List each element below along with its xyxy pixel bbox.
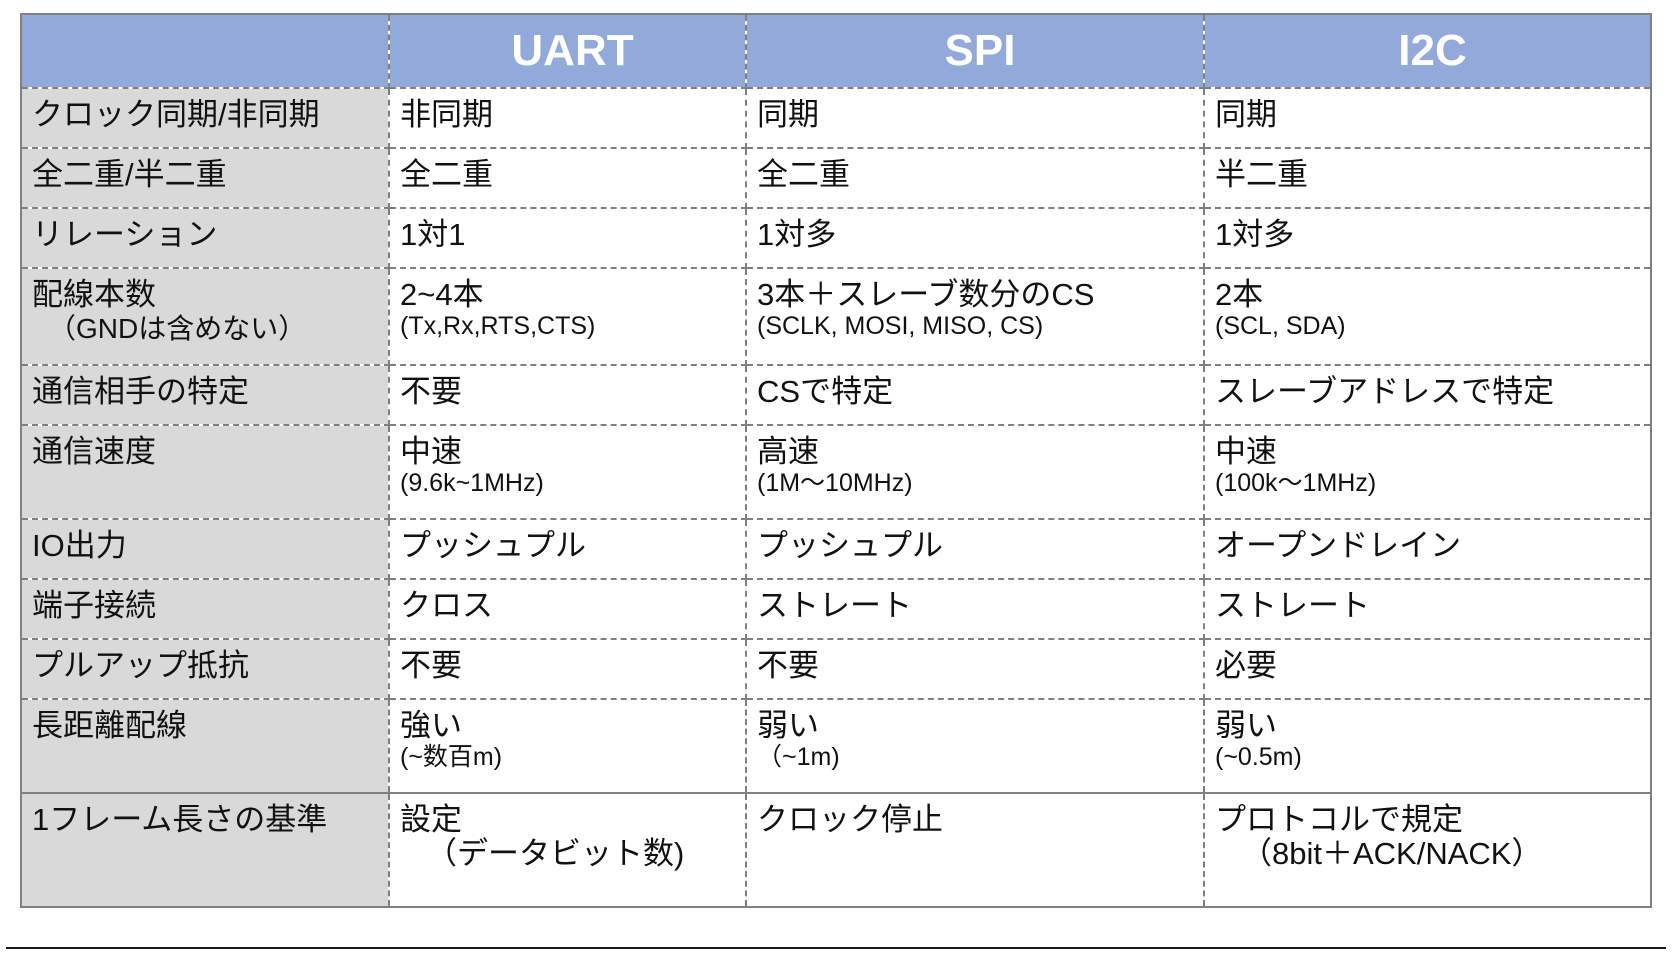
table-row: 端子接続 クロス ストレート ストレート <box>21 579 1651 639</box>
cell-value: オープンドレイン <box>1205 520 1650 571</box>
row-label: クロック同期/非同期 <box>22 89 388 141</box>
row-label-cell: 長距離配線 <box>21 699 389 793</box>
table-row: 通信相手の特定 不要 CSで特定 スレーブアドレスで特定 <box>21 365 1651 425</box>
cell-value-main: 強い <box>400 708 462 743</box>
row-label-cell: 端子接続 <box>21 579 389 639</box>
row-label-cell: IO出力 <box>21 519 389 579</box>
cell-spi: クロック停止 <box>746 793 1204 907</box>
cell-value-sub: (Tx,Rx,RTS,CTS) <box>400 312 739 340</box>
cell-value: 中速(9.6k~1MHz) <box>390 426 745 505</box>
header-cell-i2c: I2C <box>1204 14 1651 88</box>
cell-value-main: 弱い <box>1215 708 1277 743</box>
cell-value: 同期 <box>1205 89 1650 140</box>
cell-value-main: プロトコルで規定 <box>1215 802 1463 837</box>
cell-value-main: 2~4本 <box>400 277 484 312</box>
header-cell-spi: SPI <box>746 14 1204 88</box>
header-label-corner <box>22 15 388 29</box>
cell-uart: 不要 <box>389 639 746 699</box>
slide-canvas: UART SPI I2C クロック同期/非同期 非同期 同期 <box>0 0 1672 957</box>
row-label: プルアップ抵抗 <box>22 640 388 692</box>
cell-value: プッシュプル <box>390 520 745 571</box>
row-label-cell: クロック同期/非同期 <box>21 88 389 148</box>
cell-spi: 同期 <box>746 88 1204 148</box>
cell-uart: 全二重 <box>389 148 746 208</box>
header-label-i2c: I2C <box>1205 15 1650 73</box>
cell-value-sub: (9.6k~1MHz) <box>400 469 739 497</box>
cell-uart: 1対1 <box>389 208 746 268</box>
cell-value: CSで特定 <box>747 366 1203 417</box>
row-label: 全二重/半二重 <box>22 149 388 201</box>
cell-spi: CSで特定 <box>746 365 1204 425</box>
table-row: 長距離配線 強い(~数百m) 弱い（~1m) 弱い(~0.5m) <box>21 699 1651 793</box>
cell-value: 不要 <box>390 640 745 691</box>
cell-value: 不要 <box>390 366 745 417</box>
cell-value: 半二重 <box>1205 149 1650 200</box>
cell-value-sub: (SCLK, MOSI, MISO, CS) <box>757 312 1197 340</box>
serial-protocol-comparison-table: UART SPI I2C クロック同期/非同期 非同期 同期 <box>20 13 1652 908</box>
table-row: プルアップ抵抗 不要 不要 必要 <box>21 639 1651 699</box>
cell-value: 中速(100k〜1MHz) <box>1205 426 1650 505</box>
cell-value-main: 高速 <box>757 434 819 469</box>
row-label-main: 配線本数 <box>32 277 156 312</box>
cell-value: 全二重 <box>390 149 745 200</box>
cell-i2c: 弱い(~0.5m) <box>1204 699 1651 793</box>
cell-i2c: 中速(100k〜1MHz) <box>1204 425 1651 519</box>
cell-value: 1対1 <box>390 209 745 260</box>
cell-uart: 2~4本(Tx,Rx,RTS,CTS) <box>389 268 746 365</box>
row-label-cell: 通信相手の特定 <box>21 365 389 425</box>
cell-value-main: 設定 <box>400 802 462 837</box>
cell-value: スレーブアドレスで特定 <box>1205 366 1650 417</box>
cell-i2c: プロトコルで規定（8bit＋ACK/NACK） <box>1204 793 1651 907</box>
cell-uart: クロス <box>389 579 746 639</box>
cell-i2c: 半二重 <box>1204 148 1651 208</box>
header-label-spi: SPI <box>747 15 1203 73</box>
row-label: 長距離配線 <box>22 700 388 752</box>
table-row: リレーション 1対1 1対多 1対多 <box>21 208 1651 268</box>
row-label: 通信速度 <box>22 426 388 478</box>
cell-value: 弱い（~1m) <box>747 700 1203 779</box>
cell-value: 同期 <box>747 89 1203 140</box>
cell-uart: プッシュプル <box>389 519 746 579</box>
header-cell-corner <box>21 14 389 88</box>
cell-value: プロトコルで規定（8bit＋ACK/NACK） <box>1205 794 1650 880</box>
cell-value: クロック停止 <box>747 794 1203 845</box>
cell-i2c: 2本(SCL, SDA) <box>1204 268 1651 365</box>
cell-i2c: 同期 <box>1204 88 1651 148</box>
cell-i2c: 1対多 <box>1204 208 1651 268</box>
table-row: クロック同期/非同期 非同期 同期 同期 <box>21 88 1651 148</box>
cell-spi: 不要 <box>746 639 1204 699</box>
cell-value-sub: (100k〜1MHz) <box>1215 469 1644 497</box>
table-header: UART SPI I2C <box>21 14 1651 88</box>
cell-value-sub: （8bit＋ACK/NACK） <box>1215 837 1644 872</box>
cell-spi: 1対多 <box>746 208 1204 268</box>
cell-value: 強い(~数百m) <box>390 700 745 779</box>
header-cell-uart: UART <box>389 14 746 88</box>
cell-i2c: オープンドレイン <box>1204 519 1651 579</box>
cell-value-sub: （データビット数) <box>400 837 739 872</box>
cell-uart: 非同期 <box>389 88 746 148</box>
cell-value: プッシュプル <box>747 520 1203 571</box>
table-row: 全二重/半二重 全二重 全二重 半二重 <box>21 148 1651 208</box>
cell-value: 全二重 <box>747 149 1203 200</box>
cell-spi: 3本＋スレーブ数分のCS(SCLK, MOSI, MISO, CS) <box>746 268 1204 365</box>
cell-value: ストレート <box>1205 580 1650 631</box>
cell-value-sub: (1M〜10MHz) <box>757 469 1197 497</box>
cell-value: 1対多 <box>747 209 1203 260</box>
cell-value-main: 弱い <box>757 708 819 743</box>
cell-value-main: 中速 <box>1215 434 1277 469</box>
row-label: リレーション <box>22 209 388 261</box>
cell-value: 不要 <box>747 640 1203 691</box>
cell-i2c: スレーブアドレスで特定 <box>1204 365 1651 425</box>
cell-value: 2~4本(Tx,Rx,RTS,CTS) <box>390 269 745 348</box>
row-label: 1フレーム長さの基準 <box>22 794 388 846</box>
cell-uart: 中速(9.6k~1MHz) <box>389 425 746 519</box>
table-row: IO出力 プッシュプル プッシュプル オープンドレイン <box>21 519 1651 579</box>
cell-value: 設定（データビット数) <box>390 794 745 880</box>
cell-value-main: 中速 <box>400 434 462 469</box>
cell-spi: ストレート <box>746 579 1204 639</box>
cell-value: クロス <box>390 580 745 631</box>
row-label-cell: 通信速度 <box>21 425 389 519</box>
cell-value: 高速(1M〜10MHz) <box>747 426 1203 505</box>
row-label-cell: 全二重/半二重 <box>21 148 389 208</box>
cell-value: 2本(SCL, SDA) <box>1205 269 1650 348</box>
row-label-cell: プルアップ抵抗 <box>21 639 389 699</box>
cell-value-sub: (SCL, SDA) <box>1215 312 1644 340</box>
bottom-divider <box>6 947 1666 949</box>
cell-value-main: 3本＋スレーブ数分のCS <box>757 277 1094 312</box>
cell-value: ストレート <box>747 580 1203 631</box>
cell-spi: プッシュプル <box>746 519 1204 579</box>
row-label-cell: リレーション <box>21 208 389 268</box>
row-label-cell: 1フレーム長さの基準 <box>21 793 389 907</box>
cell-value-sub: (~0.5m) <box>1215 743 1644 771</box>
cell-spi: 弱い（~1m) <box>746 699 1204 793</box>
cell-value: 3本＋スレーブ数分のCS(SCLK, MOSI, MISO, CS) <box>747 269 1203 348</box>
cell-uart: 設定（データビット数) <box>389 793 746 907</box>
row-label-cell: 配線本数（GNDは含めない） <box>21 268 389 365</box>
table-row: 1フレーム長さの基準 設定（データビット数) クロック停止 プロトコルで規定（8… <box>21 793 1651 907</box>
row-label-sub: （GNDは含めない） <box>32 313 382 345</box>
cell-value: 必要 <box>1205 640 1650 691</box>
cell-spi: 高速(1M〜10MHz) <box>746 425 1204 519</box>
row-label: 配線本数（GNDは含めない） <box>22 269 388 353</box>
table-body: クロック同期/非同期 非同期 同期 同期 全二重/半二重 全二重 <box>21 88 1651 907</box>
cell-spi: 全二重 <box>746 148 1204 208</box>
cell-uart: 強い(~数百m) <box>389 699 746 793</box>
cell-value-sub: (~数百m) <box>400 743 739 771</box>
cell-value-main: 2本 <box>1215 277 1263 312</box>
cell-value: 1対多 <box>1205 209 1650 260</box>
cell-uart: 不要 <box>389 365 746 425</box>
cell-value: 非同期 <box>390 89 745 140</box>
cell-i2c: 必要 <box>1204 639 1651 699</box>
row-label: IO出力 <box>22 520 388 572</box>
table-row: 配線本数（GNDは含めない） 2~4本(Tx,Rx,RTS,CTS) 3本＋スレ… <box>21 268 1651 365</box>
cell-value-sub: （~1m) <box>757 743 1197 771</box>
table-row: 通信速度 中速(9.6k~1MHz) 高速(1M〜10MHz) 中速(100k〜… <box>21 425 1651 519</box>
header-row: UART SPI I2C <box>21 14 1651 88</box>
row-label: 通信相手の特定 <box>22 366 388 418</box>
header-label-uart: UART <box>390 15 745 73</box>
cell-i2c: ストレート <box>1204 579 1651 639</box>
row-label: 端子接続 <box>22 580 388 632</box>
cell-value: 弱い(~0.5m) <box>1205 700 1650 779</box>
